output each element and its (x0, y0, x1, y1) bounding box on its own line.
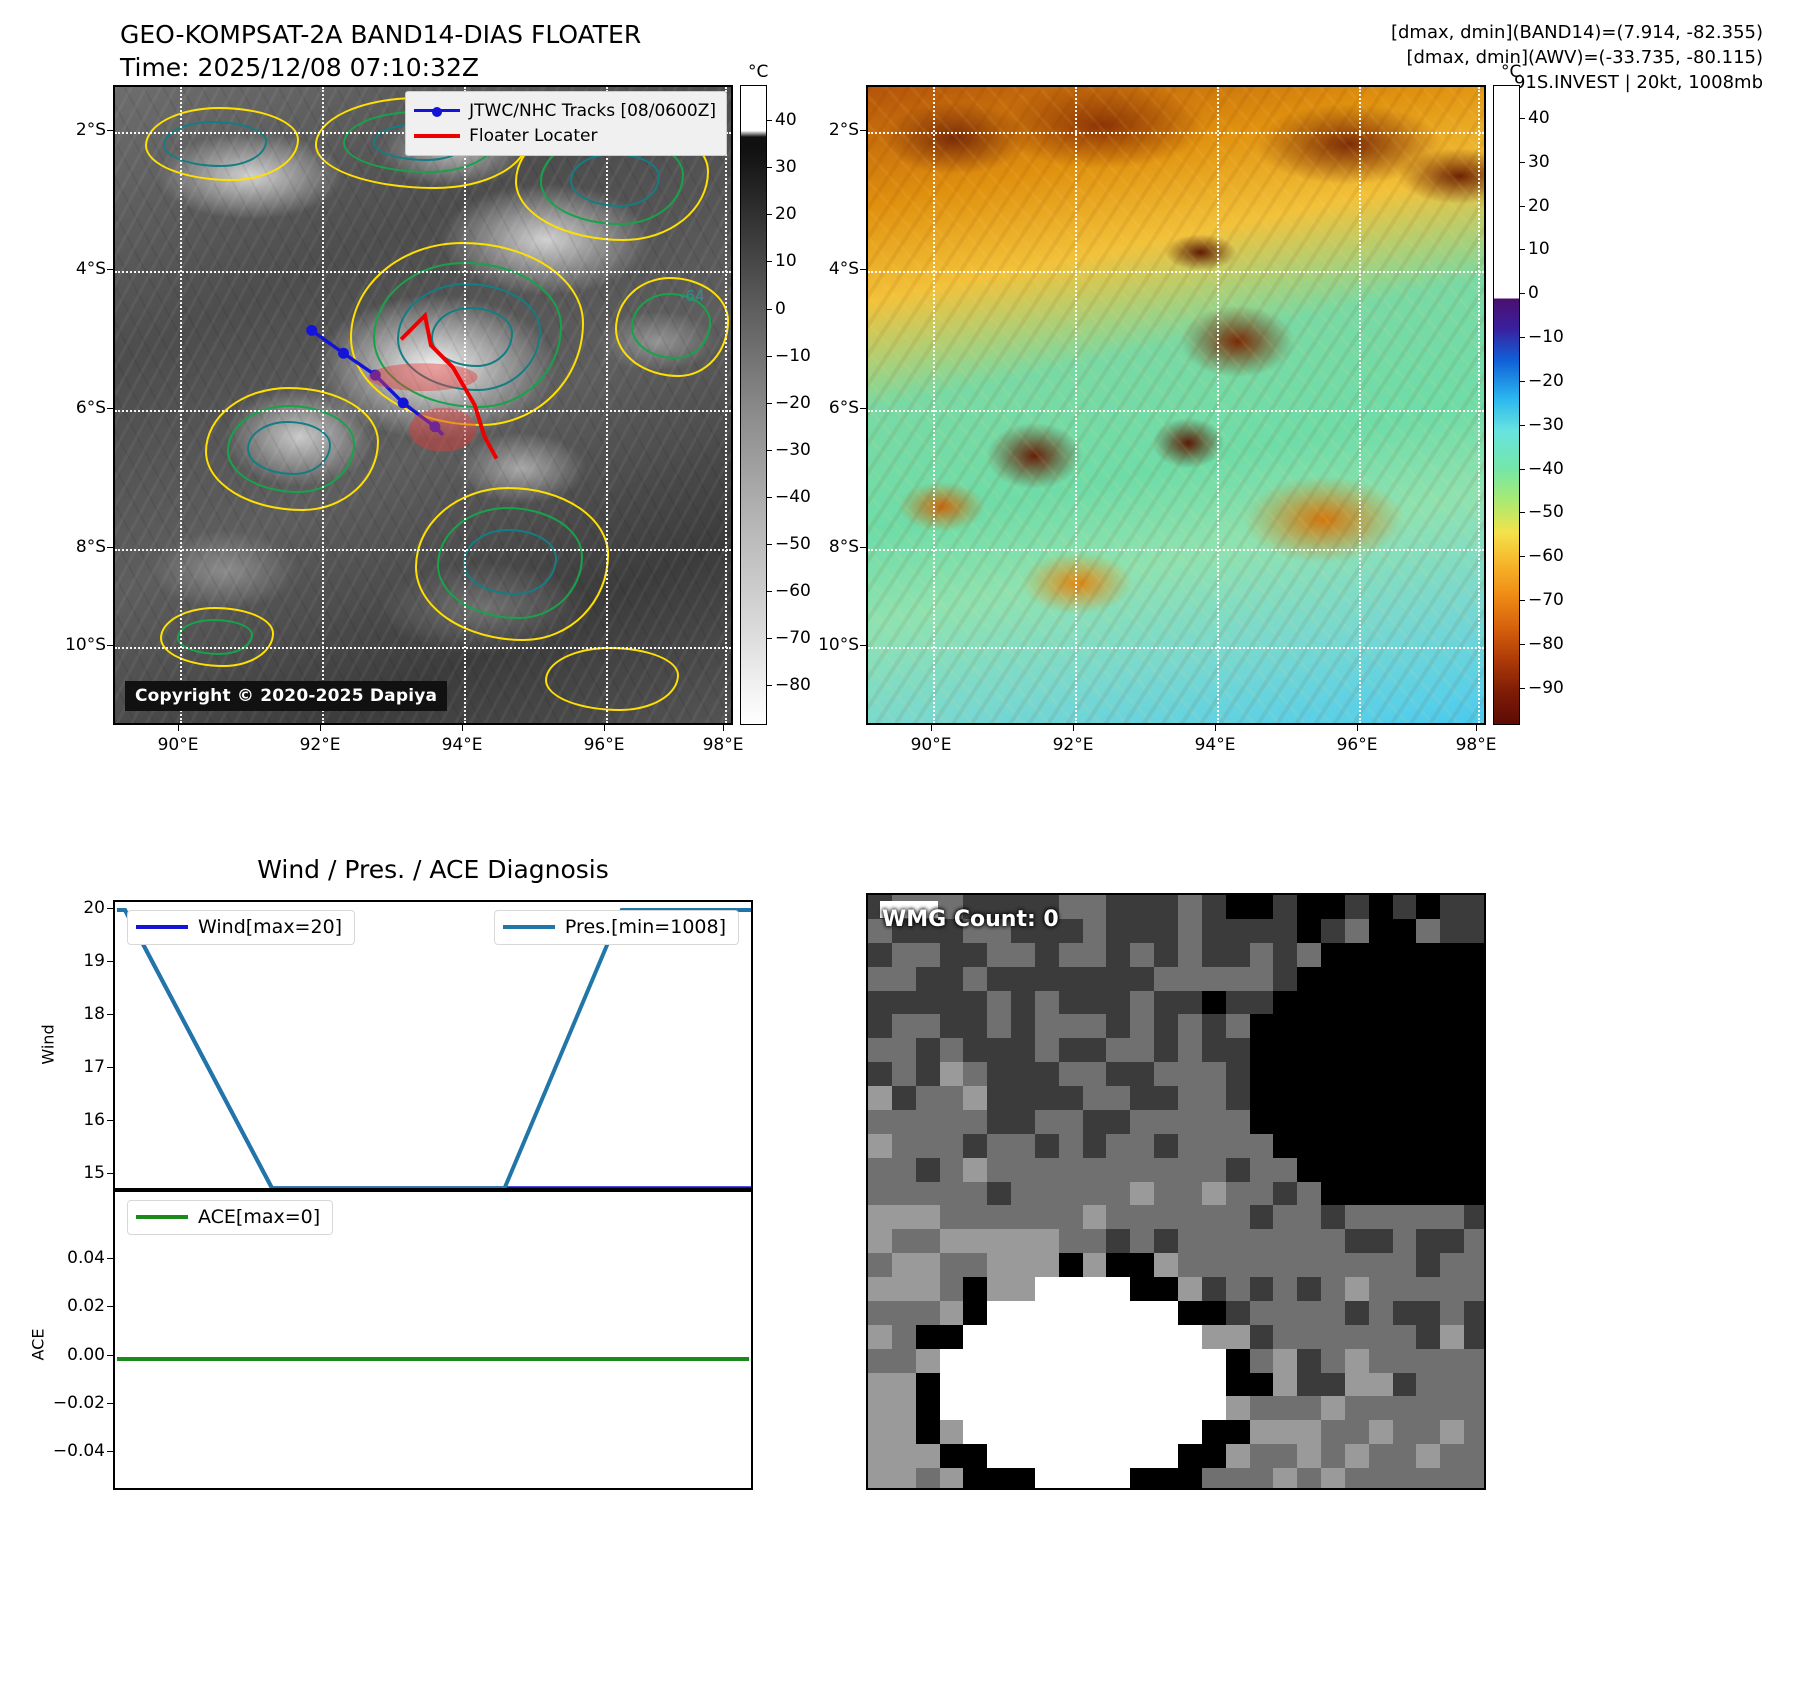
wmg-grid-cell (1154, 1182, 1178, 1206)
axis-tick-mark (107, 961, 113, 962)
wmg-grid-cell (1059, 1110, 1083, 1134)
wmg-grid-cell (1321, 1444, 1345, 1468)
wmg-grid-cell (1106, 1444, 1130, 1468)
colorbar-tick-mark (1520, 249, 1525, 250)
colorbar-tick-mark (767, 214, 772, 215)
wmg-grid-cell (1083, 991, 1107, 1015)
wmg-grid-cell (1226, 1014, 1250, 1038)
axis-tick-mark (107, 1306, 113, 1307)
wmg-grid-cell (1035, 1373, 1059, 1397)
colorbar-tick-mark (767, 309, 772, 310)
wmg-grid-cell (892, 1014, 916, 1038)
wmg-grid-cell (1059, 1062, 1083, 1086)
wmg-grid-cell (1393, 1038, 1417, 1062)
wmg-grid-cell (1035, 1158, 1059, 1182)
wmg-grid-cell (1440, 1182, 1464, 1206)
wmg-grid-cell (987, 1158, 1011, 1182)
wmg-grid-cell (1273, 1420, 1297, 1444)
wmg-grid-cell (1393, 1325, 1417, 1349)
wmg-grid-cell (1154, 1062, 1178, 1086)
wmg-grid-cell (1440, 1253, 1464, 1277)
wmg-grid-cell (1011, 1301, 1035, 1325)
wmg-grid-cell (892, 1468, 916, 1490)
wmg-grid-cell (1059, 1349, 1083, 1373)
wmg-grid-cell (987, 1182, 1011, 1206)
awv-colorbar-unit: °C (1501, 62, 1521, 82)
wmg-grid-cell (1250, 1444, 1274, 1468)
wmg-grid-cell (1178, 1062, 1202, 1086)
wmg-grid-cell (1273, 1014, 1297, 1038)
wmg-grid-cell (1059, 1134, 1083, 1158)
wmg-grid-cell (1369, 1014, 1393, 1038)
wmg-grid-cell (1464, 1277, 1486, 1301)
colorbar-tick-label: −30 (1528, 415, 1564, 435)
wmg-grid-cell (1250, 967, 1274, 991)
wmg-grid-cell (1130, 1205, 1154, 1229)
wmg-grid-cell (940, 943, 964, 967)
wmg-grid-cell (1321, 1014, 1345, 1038)
wmg-grid-cell (1464, 967, 1486, 991)
colorbar-tick-label: −30 (775, 440, 811, 460)
wmg-grid-cell (963, 1253, 987, 1277)
wmg-grid-cell (987, 1444, 1011, 1468)
wmg-grid-cell (1440, 991, 1464, 1015)
wmg-grid-cell (1440, 1349, 1464, 1373)
wmg-grid-cell (868, 1349, 892, 1373)
wmg-grid-cell (1011, 1134, 1035, 1158)
wmg-grid-cell (1011, 991, 1035, 1015)
wmg-grid-cell (1369, 1062, 1393, 1086)
wmg-grid-cell (1250, 1062, 1274, 1086)
wmg-grid-cell (1393, 991, 1417, 1015)
wmg-grid-cell (1416, 1229, 1440, 1253)
wmg-grid-cell (1440, 919, 1464, 943)
wmg-grid-cell (1393, 1253, 1417, 1277)
map-legend: JTWC/NHC Tracks [08/0600Z] Floater Locat… (405, 91, 727, 156)
wmg-grid-cell (868, 943, 892, 967)
wmg-grid-cell (1202, 1086, 1226, 1110)
axis-tick-mark (107, 1120, 113, 1121)
wmg-grid-cell (892, 1373, 916, 1397)
wmg-grid-cell (1202, 1301, 1226, 1325)
wmg-grid-cell (1297, 1062, 1321, 1086)
wmg-grid-cell (1297, 1110, 1321, 1134)
wmg-grid-cell (916, 1086, 940, 1110)
wmg-grid-cell (868, 1277, 892, 1301)
awv-cloud-texture (868, 87, 1484, 723)
wmg-grid-cell (1059, 1396, 1083, 1420)
wmg-grid-cell (1154, 1253, 1178, 1277)
wmg-grid-cell (1035, 1301, 1059, 1325)
wmg-grid-cell (1202, 1277, 1226, 1301)
wmg-grid-cell (1202, 1205, 1226, 1229)
axis-tick-label: 16 (45, 1110, 105, 1130)
wmg-grid-cell (963, 1014, 987, 1038)
wmg-grid-cell (1011, 1038, 1035, 1062)
wmg-count-badge: WMG Count: 0 (882, 907, 1059, 932)
wmg-grid-cell (1226, 1253, 1250, 1277)
wmg-grid-cell (1106, 1182, 1130, 1206)
wmg-grid-cell (1083, 1229, 1107, 1253)
wmg-cloud-cluster-map[interactable]: WMG Count: 0 (866, 893, 1486, 1490)
wmg-grid-cell (1345, 1134, 1369, 1158)
wmg-grid-cell (987, 1110, 1011, 1134)
wmg-grid-cell (987, 967, 1011, 991)
colorbar-tick-mark (767, 120, 772, 121)
wmg-grid-cell (916, 1396, 940, 1420)
wmg-grid-cell (1440, 1468, 1464, 1490)
wmg-grid-cell (1440, 1062, 1464, 1086)
wmg-grid-cell (1178, 1373, 1202, 1397)
colorbar-tick-mark (767, 497, 772, 498)
wmg-grid-cell (868, 1086, 892, 1110)
wmg-grid-cell (1345, 1396, 1369, 1420)
wmg-grid-cell (1130, 1253, 1154, 1277)
map-y-tick (107, 130, 113, 131)
ir-satellite-image[interactable]: -64 JTWC/NHC Tracks [08/0600Z] (113, 85, 733, 725)
wmg-grid-cell (1226, 1038, 1250, 1062)
wmg-grid-cell (1226, 1468, 1250, 1490)
wmg-grid-cell (1297, 1038, 1321, 1062)
wmg-grid-cell (892, 1205, 916, 1229)
wmg-grid-cell (963, 1468, 987, 1490)
wmg-grid-cell (1321, 991, 1345, 1015)
wmg-grid-cell (1393, 1420, 1417, 1444)
wmg-grid-cell (1178, 967, 1202, 991)
wmg-grid-cell (1321, 1420, 1345, 1444)
wmg-grid-cell (892, 1349, 916, 1373)
wmg-grid-cell (868, 1182, 892, 1206)
wmg-grid-cell (1345, 1229, 1369, 1253)
wmg-grid-cell (1273, 1468, 1297, 1490)
wmg-grid-cell (1035, 1086, 1059, 1110)
map-y-tick (860, 130, 866, 131)
wmg-grid-cell (1083, 1110, 1107, 1134)
wmg-grid-cell (1369, 1134, 1393, 1158)
wmg-grid-cell (963, 1277, 987, 1301)
wmg-grid-cell (1464, 1373, 1486, 1397)
wmg-grid-cell (1178, 991, 1202, 1015)
wmg-grid-cell (1083, 919, 1107, 943)
wmg-grid-cell (1393, 1014, 1417, 1038)
wmg-grid-cell (1464, 1444, 1486, 1468)
wmg-grid-cell (1130, 1373, 1154, 1397)
wmg-grid-cell (916, 1229, 940, 1253)
wmg-grid-cell (1393, 967, 1417, 991)
wmg-grid-cell (1178, 919, 1202, 943)
wmg-grid-cell (1345, 1014, 1369, 1038)
wind-pressure-chart[interactable]: Wind[max=20] Pres.[min=1008] (113, 900, 753, 1190)
wmg-grid-cell (1273, 943, 1297, 967)
wmg-grid-cell (1297, 1396, 1321, 1420)
axis-tick-label: 0.04 (45, 1248, 105, 1268)
colorbar-tick-label: −40 (1528, 459, 1564, 479)
wmg-grid-cell (892, 1253, 916, 1277)
wmg-grid-cell (1059, 1229, 1083, 1253)
axis-tick-mark (107, 908, 113, 909)
wmg-grid-cell (1035, 1349, 1059, 1373)
wmg-grid-cell (1416, 1277, 1440, 1301)
wmg-grid-cell (892, 1110, 916, 1134)
wmg-grid-cell (916, 991, 940, 1015)
wmg-grid-cell (1393, 1229, 1417, 1253)
wmg-grid-cell (1345, 1373, 1369, 1397)
wmg-grid-cell (1059, 967, 1083, 991)
wmg-grid-cell (1464, 1253, 1486, 1277)
axis-tick-label: 15 (45, 1163, 105, 1183)
wmg-grid-cell (1130, 1420, 1154, 1444)
wmg-grid-cell (1154, 1349, 1178, 1373)
wmg-grid-cell (987, 1468, 1011, 1490)
wmg-grid-cell (963, 1158, 987, 1182)
wmg-grid-cell (1416, 1110, 1440, 1134)
wmg-grid-cell (1106, 1014, 1130, 1038)
wmg-grid-cell (868, 1468, 892, 1490)
wmg-grid-cell (1250, 895, 1274, 919)
colorbar-tick-label: −70 (1528, 590, 1564, 610)
ir-colorbar-unit: °C (748, 62, 768, 82)
wmg-grid-cell (1440, 1134, 1464, 1158)
wmg-grid-cell (1178, 1158, 1202, 1182)
wmg-grid-cell (1106, 1110, 1130, 1134)
wmg-grid-cell (1416, 1062, 1440, 1086)
wmg-grid-cell (1035, 1182, 1059, 1206)
wmg-grid-cell (1202, 1396, 1226, 1420)
wmg-grid-cell (1130, 1396, 1154, 1420)
map-y-tick (860, 547, 866, 548)
wmg-grid-cell (963, 991, 987, 1015)
wmg-grid-cell (1416, 1349, 1440, 1373)
wmg-grid-cell (1178, 1205, 1202, 1229)
wmg-grid-cell (940, 1110, 964, 1134)
wmg-grid-cell (1369, 1182, 1393, 1206)
wmg-grid-cell (1345, 1301, 1369, 1325)
wmg-grid-cell (1464, 1229, 1486, 1253)
wmg-grid-cell (940, 1396, 964, 1420)
wmg-grid-cell (1250, 1325, 1274, 1349)
wmg-grid-cell (1321, 1325, 1345, 1349)
axis-tick-mark (107, 1173, 113, 1174)
pressure-line-swatch (503, 925, 555, 929)
wmg-grid-cell (1083, 1444, 1107, 1468)
wmg-grid-cell (916, 1444, 940, 1468)
wmg-grid-cell (1178, 1420, 1202, 1444)
wmg-grid-cell (1273, 1229, 1297, 1253)
copyright-banner: Copyright © 2020-2025 Dapiya (125, 681, 447, 711)
wmg-grid-cell (1393, 943, 1417, 967)
wmg-grid-cell (1440, 1444, 1464, 1468)
wmg-grid-cell (1059, 991, 1083, 1015)
wmg-grid-cell (1106, 943, 1130, 967)
wmg-grid-cell (1250, 1014, 1274, 1038)
wmg-grid-cell (1083, 1420, 1107, 1444)
colorbar-tick-mark (1520, 206, 1525, 207)
wmg-grid-cell (1059, 1014, 1083, 1038)
wmg-grid-cell (1106, 1158, 1130, 1182)
wmg-grid-cell (1297, 1444, 1321, 1468)
wmg-grid-cell (1464, 1205, 1486, 1229)
wmg-grid-cell (1297, 1277, 1321, 1301)
wmg-grid-cell (1226, 1158, 1250, 1182)
wmg-grid-cell (1345, 1038, 1369, 1062)
wmg-grid-cell (1345, 1325, 1369, 1349)
wmg-grid-cell (1106, 895, 1130, 919)
map-x-tick (723, 725, 724, 731)
wmg-grid-cell (916, 943, 940, 967)
wmg-grid-cell (1416, 1014, 1440, 1038)
wmg-grid-cell (1297, 967, 1321, 991)
wmg-grid-cell (1297, 943, 1321, 967)
wmg-grid-cell (1226, 895, 1250, 919)
wmg-grid-cell (1035, 991, 1059, 1015)
axis-tick-label: 0.00 (45, 1345, 105, 1365)
wmg-grid-cell (940, 1205, 964, 1229)
map-x-tick (1215, 725, 1216, 731)
wmg-grid-cell (963, 1038, 987, 1062)
wmg-grid-cell (1202, 1444, 1226, 1468)
wmg-grid-cell (963, 1229, 987, 1253)
wmg-grid-cell (1202, 1253, 1226, 1277)
wmg-grid-cell (916, 1325, 940, 1349)
wmg-grid-cell (1011, 1420, 1035, 1444)
wmg-grid-cell (1154, 1277, 1178, 1301)
wmg-grid-cell (1130, 1134, 1154, 1158)
wmg-grid-cell (1273, 1038, 1297, 1062)
wmg-grid-cell (1154, 1038, 1178, 1062)
wmg-grid-cell (1440, 1373, 1464, 1397)
wmg-grid-cell (1011, 1468, 1035, 1490)
ir-colorbar (740, 85, 767, 725)
wmg-grid-cell (1035, 1444, 1059, 1468)
map-y-tick (860, 408, 866, 409)
wmg-grid-cell (916, 1110, 940, 1134)
wmg-grid-cell (963, 1205, 987, 1229)
wmg-grid-cell (1106, 1420, 1130, 1444)
wmg-grid-cell (1416, 919, 1440, 943)
wmg-grid-cell (1393, 1277, 1417, 1301)
wmg-grid-cell (892, 1229, 916, 1253)
wmg-grid-cell (1154, 967, 1178, 991)
wmg-grid-cell (1393, 1349, 1417, 1373)
wmg-grid-cell (1154, 1205, 1178, 1229)
colorbar-tick-label: 20 (1528, 196, 1550, 216)
wmg-grid-cell (1321, 919, 1345, 943)
wmg-grid-cell (1083, 1349, 1107, 1373)
map-x-tick (320, 725, 321, 731)
colorbar-tick-mark (1520, 118, 1525, 119)
wmg-grid-cell (1273, 1062, 1297, 1086)
wmg-grid-cell (1130, 1086, 1154, 1110)
wmg-grid-cell (916, 1373, 940, 1397)
wmg-grid-cell (868, 1301, 892, 1325)
map-x-tick (1476, 725, 1477, 731)
wmg-grid-cell (868, 1444, 892, 1468)
wmg-grid-cell (1297, 1086, 1321, 1110)
wmg-grid-cell (1345, 1444, 1369, 1468)
wmg-grid-cell (1226, 1373, 1250, 1397)
wmg-grid-cell (1226, 1349, 1250, 1373)
wmg-grid-cell (1273, 919, 1297, 943)
wmg-grid-cell (868, 1253, 892, 1277)
wmg-grid-cell (1202, 919, 1226, 943)
wmg-grid-cell (940, 1062, 964, 1086)
awv-satellite-image[interactable] (866, 85, 1486, 725)
wmg-grid-cell (1250, 1301, 1274, 1325)
colorbar-tick-mark (1520, 512, 1525, 513)
wmg-grid-cell (1059, 1468, 1083, 1490)
axis-tick-label: 17 (45, 1057, 105, 1077)
wmg-grid-cell (963, 1062, 987, 1086)
colorbar-tick-label: 20 (775, 204, 797, 224)
wmg-grid-cell (1083, 1038, 1107, 1062)
wmg-grid-cell (1106, 1038, 1130, 1062)
wmg-grid-cell (1273, 1134, 1297, 1158)
wmg-grid-cell (963, 1182, 987, 1206)
map-y-tick (107, 645, 113, 646)
wmg-grid-cell (963, 967, 987, 991)
colorbar-tick-mark (767, 167, 772, 168)
wmg-grid-cell (1011, 1086, 1035, 1110)
wmg-grid-cell (963, 1373, 987, 1397)
axis-tick-mark (107, 1258, 113, 1259)
legend-label-tracks: JTWC/NHC Tracks [08/0600Z] (469, 101, 716, 121)
colorbar-tick-mark (1520, 644, 1525, 645)
wmg-grid-cell (1416, 1038, 1440, 1062)
wmg-grid-cell (1321, 1229, 1345, 1253)
wmg-grid-cell (892, 1301, 916, 1325)
wmg-grid-cell (1226, 919, 1250, 943)
wmg-grid-cell (1250, 1420, 1274, 1444)
ace-chart[interactable]: ACE[max=0] (113, 1190, 753, 1490)
wmg-grid-cell (1226, 1420, 1250, 1444)
wmg-grid-cell (1440, 895, 1464, 919)
wmg-grid-cell (940, 1229, 964, 1253)
wmg-grid-cell (963, 1110, 987, 1134)
wmg-grid-cell (987, 1062, 1011, 1086)
wmg-grid-cell (868, 967, 892, 991)
wmg-grid-cell (1273, 1349, 1297, 1373)
wmg-grid-cell (1130, 967, 1154, 991)
wmg-grid-cell (1154, 991, 1178, 1015)
wmg-grid-cell (1035, 1014, 1059, 1038)
wmg-grid-cell (1178, 1014, 1202, 1038)
wmg-grid-cell (1083, 895, 1107, 919)
wmg-grid-cell (1035, 943, 1059, 967)
wmg-grid-cell (1202, 1229, 1226, 1253)
wmg-grid-cell (1178, 1468, 1202, 1490)
wmg-grid-cell (940, 1014, 964, 1038)
wmg-grid-cell (1106, 1205, 1130, 1229)
wmg-grid-cell (1226, 991, 1250, 1015)
wmg-grid-cell (1106, 1134, 1130, 1158)
wmg-grid-cell (963, 1134, 987, 1158)
wmg-grid-cell (1011, 1253, 1035, 1277)
wmg-grid-cell (987, 1253, 1011, 1277)
wmg-grid-cell (1106, 1468, 1130, 1490)
wmg-grid-cell (1083, 1086, 1107, 1110)
wmg-grid-cell (1393, 895, 1417, 919)
wmg-grid-cell (1464, 1468, 1486, 1490)
awv-range: [dmax, dmin](AWV)=(-33.735, -80.115) (1391, 45, 1763, 70)
ace-series (115, 1192, 751, 1490)
wmg-grid-cell (1035, 1205, 1059, 1229)
wmg-grid-cell (1178, 1325, 1202, 1349)
wmg-grid-cell (1416, 1373, 1440, 1397)
wmg-grid-cell (868, 1014, 892, 1038)
wmg-grid-cell (1393, 1373, 1417, 1397)
wmg-grid-cell (1440, 943, 1464, 967)
wmg-grid-cell (1250, 943, 1274, 967)
